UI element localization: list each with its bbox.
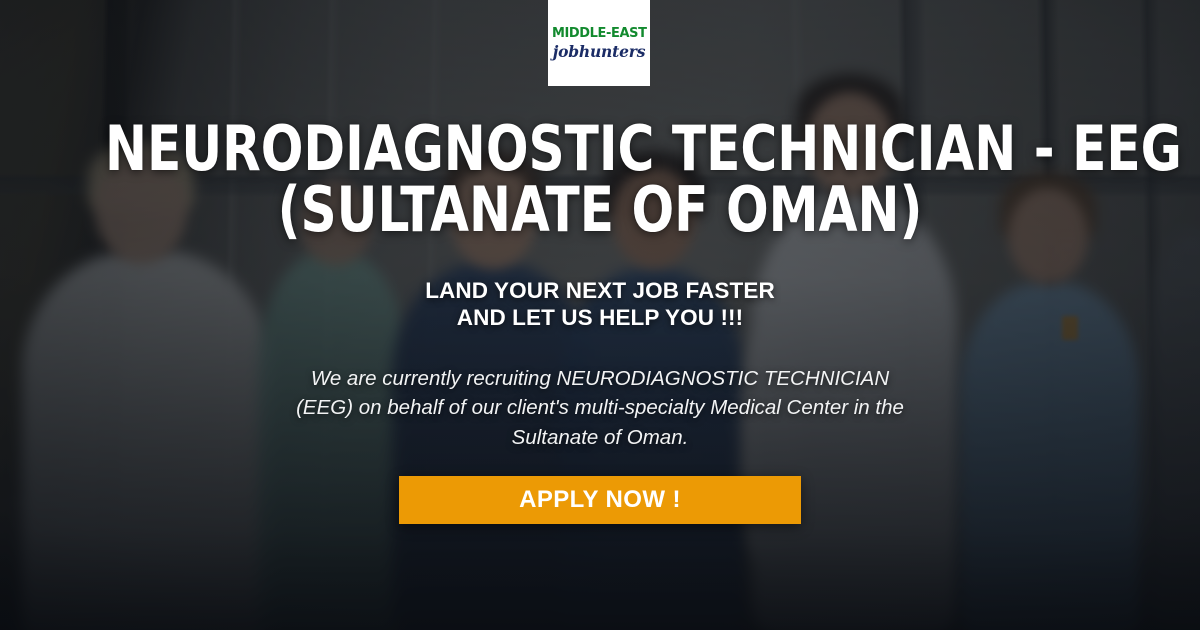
hero-description: We are currently recruiting NEURODIAGNOS… (290, 364, 910, 453)
page-title-line-1: NEURODIAGNOSTIC TECHNICIAN - EEG (105, 118, 1095, 179)
brand-logo[interactable]: MIDDLE-EAST jobhunters (548, 0, 650, 86)
hero-subheadline-line-2: AND LET US HELP YOU !!! (425, 304, 775, 331)
page-title: NEURODIAGNOSTIC TECHNICIAN - EEG (SULTAN… (105, 118, 1095, 241)
cta-container: APPLY NOW ! (399, 476, 801, 524)
hero-subheadline: LAND YOUR NEXT JOB FASTER AND LET US HEL… (425, 277, 775, 332)
apply-now-button[interactable]: APPLY NOW ! (399, 476, 801, 524)
hero-description-line-1: We are currently recruiting NEURODIAGNOS… (311, 367, 758, 390)
brand-logo-line-1: MIDDLE-EAST (552, 27, 647, 41)
page-title-line-2: (SULTANATE OF OMAN) (105, 179, 1095, 240)
hero-content: NEURODIAGNOSTIC TECHNICIAN - EEG (SULTAN… (0, 0, 1200, 630)
brand-logo-line-2: jobhunters (553, 44, 646, 60)
hero-subheadline-line-1: LAND YOUR NEXT JOB FASTER (425, 277, 775, 304)
job-ad-banner: MIDDLE-EAST jobhunters NEURODIAGNOSTIC T… (0, 0, 1200, 630)
